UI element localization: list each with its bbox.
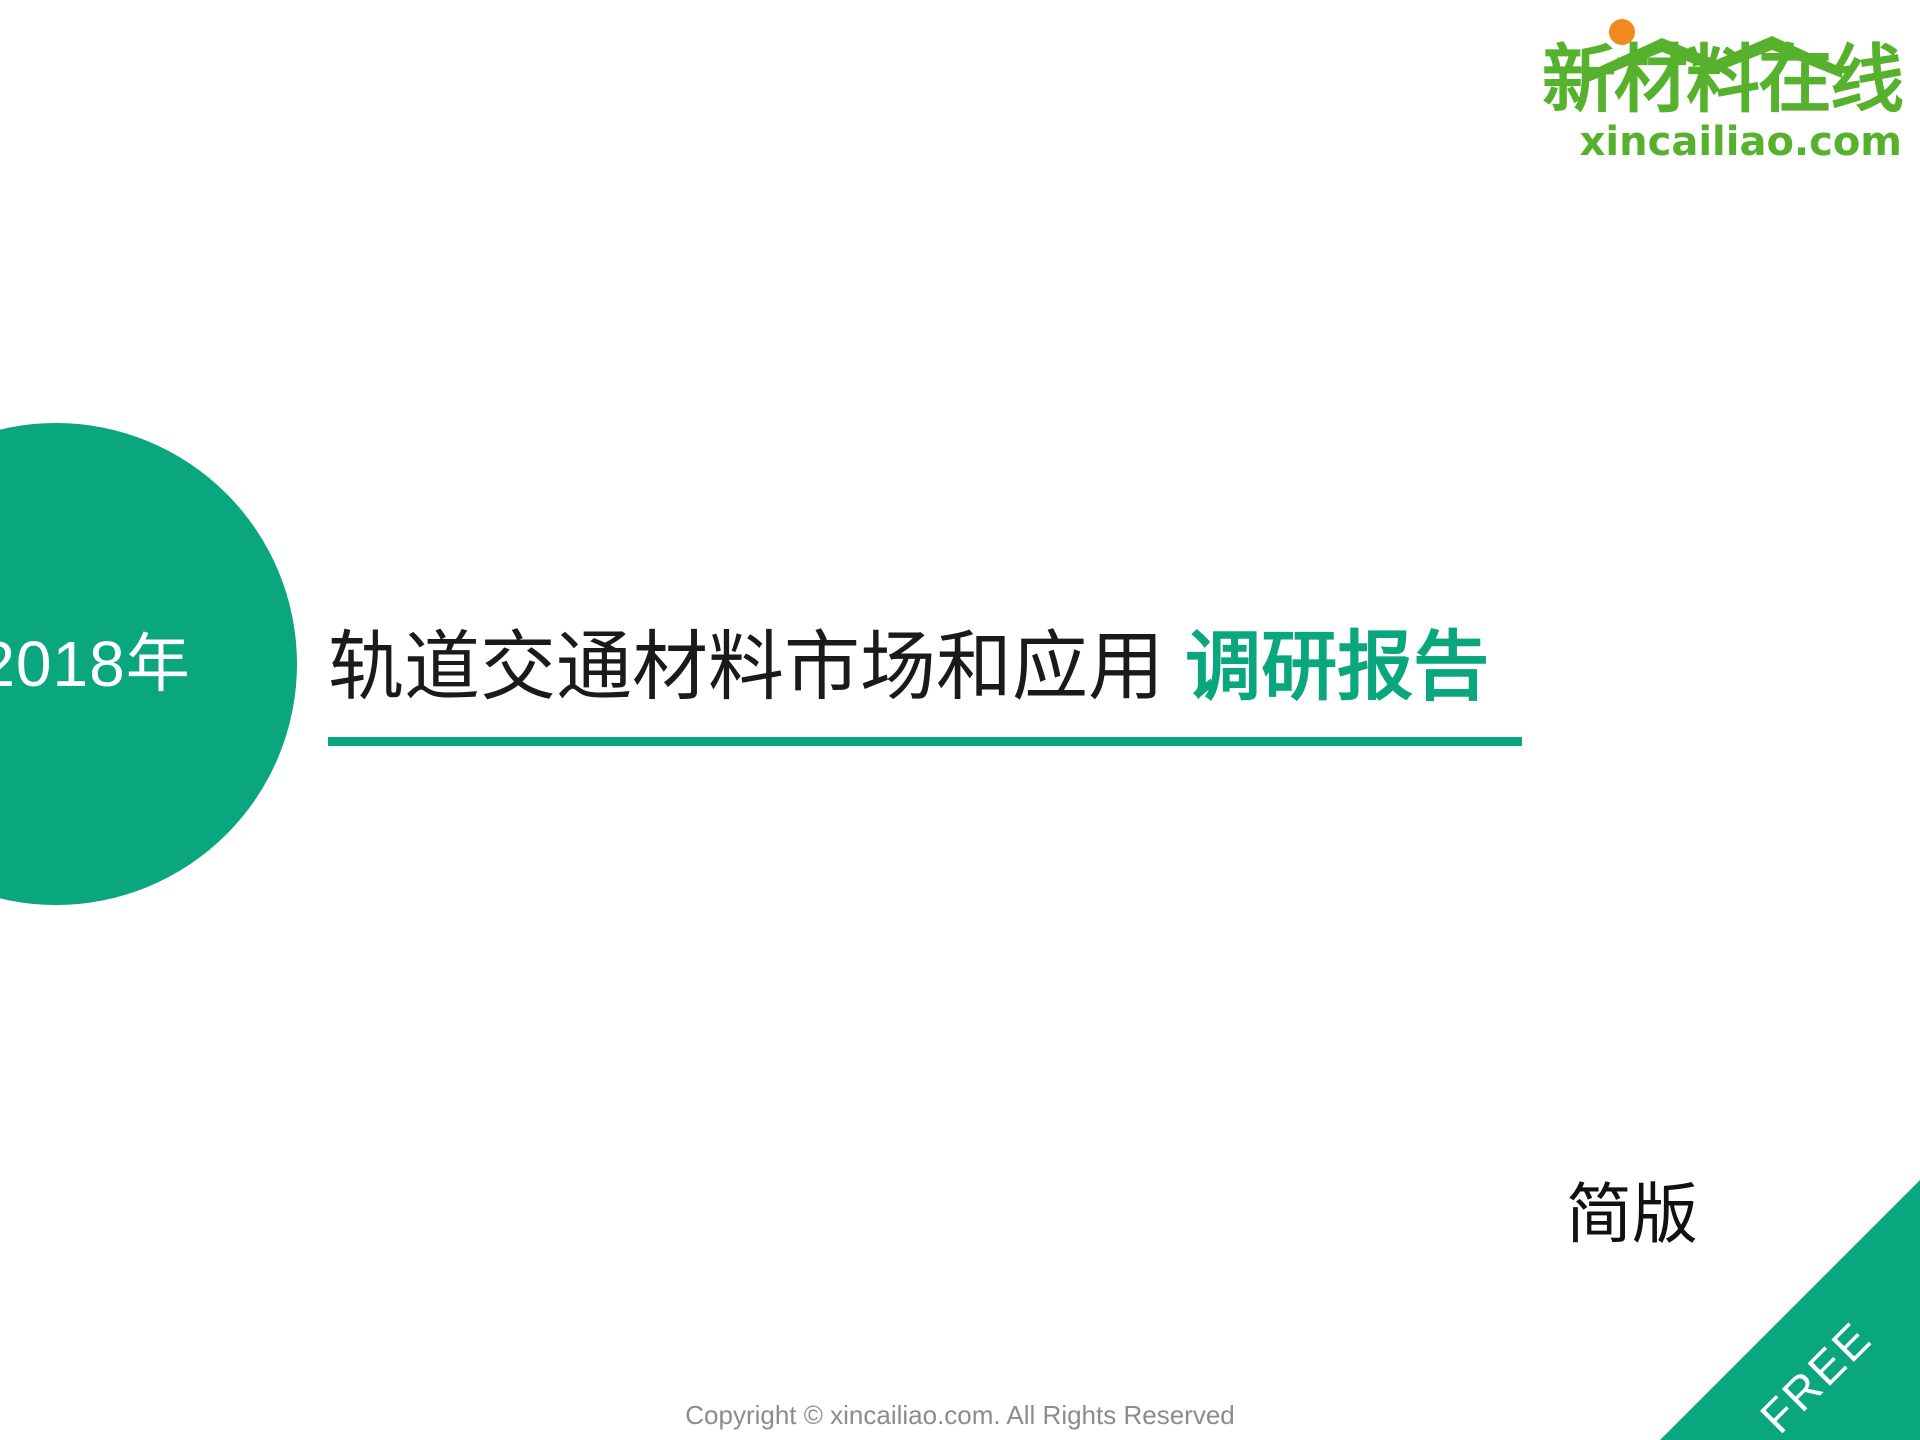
page-title: 轨道交通材料市场和应用 调研报告 <box>328 620 1628 716</box>
brand-logo[interactable]: 新材料在线 xincailiao.com <box>1302 10 1902 170</box>
title-underline-rule <box>328 737 1522 746</box>
title-line: 轨道交通材料市场和应用 调研报告 <box>328 620 1628 716</box>
logo-wordmark-cn: 新材料在线 <box>1302 40 1902 120</box>
title-accent-text: 调研报告 <box>1185 625 1489 710</box>
year-badge-label: 2018年 <box>0 423 297 905</box>
copyright-footer: Copyright © xincailiao.com. All Rights R… <box>0 1398 1920 1432</box>
report-cover-slide: 新材料在线 xincailiao.com 2018年 轨道交通材料市场和应用 调… <box>0 0 1920 1440</box>
title-main-text: 轨道交通材料市场和应用 <box>328 625 1185 710</box>
logo-wordmark-en: xincailiao.com <box>1302 120 1902 164</box>
